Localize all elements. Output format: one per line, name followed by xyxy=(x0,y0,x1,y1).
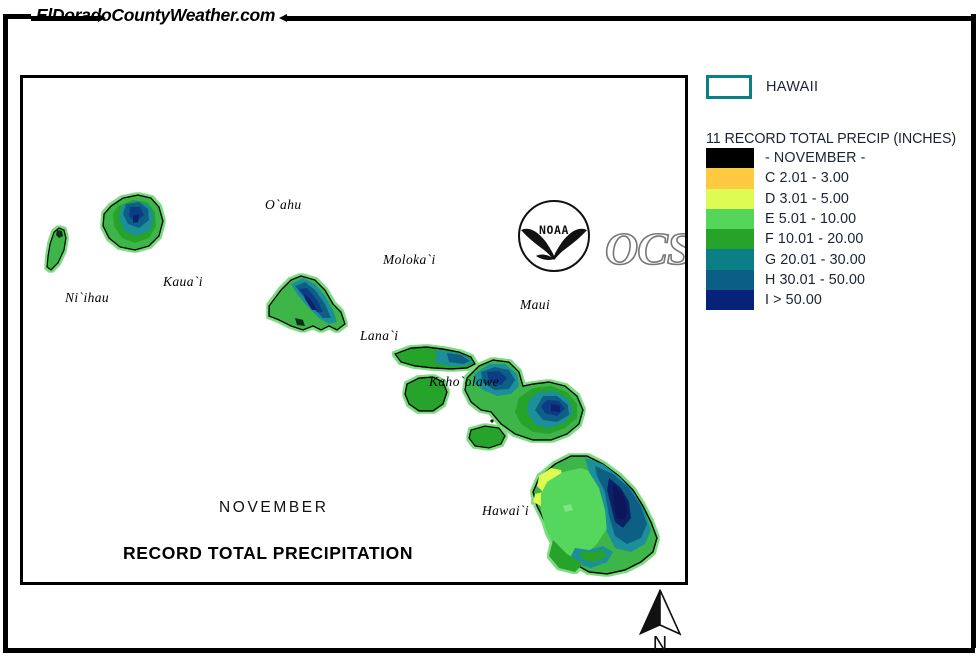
legend-entry-label: - NOVEMBER - xyxy=(765,150,866,166)
noaa-logo-icon: NOAA xyxy=(516,198,592,274)
legend-entry-swatch xyxy=(706,209,754,229)
legend-entry: G 20.01 - 30.00 xyxy=(706,249,970,269)
north-arrow-icon: N xyxy=(636,588,684,652)
legend-entry-label: I > 50.00 xyxy=(765,292,822,308)
hawaii-islands-map xyxy=(23,78,685,582)
map-caption-month: NOVEMBER xyxy=(219,499,329,517)
island-label-molokai: Moloka`i xyxy=(383,252,436,268)
legend-region-row: HAWAII xyxy=(706,74,970,100)
legend-entry: H 30.01 - 50.00 xyxy=(706,270,970,290)
frame-border-right xyxy=(971,14,976,648)
legend-entry-label: D 3.01 - 5.00 xyxy=(765,191,849,207)
legend-entry: C 2.01 - 3.00 xyxy=(706,168,970,188)
legend-entry: I > 50.00 xyxy=(706,290,970,310)
island-label-kauai: Kaua`i xyxy=(163,274,203,290)
island-label-maui: Maui xyxy=(520,297,550,313)
legend-entry-list: - NOVEMBER -C 2.01 - 3.00D 3.01 - 5.00E … xyxy=(706,148,970,310)
island-kauai xyxy=(103,195,163,250)
map-caption-title: RECORD TOTAL PRECIPITATION xyxy=(123,543,413,564)
legend-entry-swatch xyxy=(706,270,754,290)
island-label-kahoolawe: Kaho`olawe xyxy=(429,374,499,390)
ocs-logo-text: OCS xyxy=(605,223,688,274)
island-hawaii-big xyxy=(533,456,657,574)
map-page: ElDoradoCountyWeather.com xyxy=(0,0,980,657)
legend-entry: E 5.01 - 10.00 xyxy=(706,209,970,229)
island-niihau xyxy=(47,228,66,270)
legend-entry-swatch xyxy=(706,290,754,310)
map-legend: HAWAII 11 RECORD TOTAL PRECIP (INCHES) -… xyxy=(706,74,970,310)
legend-entry-swatch xyxy=(706,168,754,188)
island-label-hawaii: Hawai`i xyxy=(482,503,529,519)
island-kahoolawe xyxy=(469,426,505,448)
legend-entry-swatch xyxy=(706,189,754,209)
legend-entry-swatch xyxy=(706,229,754,249)
legend-entry: - NOVEMBER - xyxy=(706,148,970,168)
island-oahu xyxy=(269,276,345,330)
island-label-oahu: O`ahu xyxy=(265,197,302,213)
site-title: ElDoradoCountyWeather.com xyxy=(36,5,275,26)
legend-title: 11 RECORD TOTAL PRECIP (INCHES) xyxy=(706,131,970,147)
legend-entry-swatch xyxy=(706,148,754,168)
map-frame: Ni`ihau Kaua`i O`ahu Moloka`i Lana`i Mau… xyxy=(20,75,688,585)
legend-entry-label: H 30.01 - 50.00 xyxy=(765,272,865,288)
frame-border-bottom xyxy=(3,648,975,653)
island-label-niihau: Ni`ihau xyxy=(65,290,109,306)
north-arrow-label: N xyxy=(653,633,667,652)
legend-entry-swatch xyxy=(706,249,754,269)
legend-entry-label: F 10.01 - 20.00 xyxy=(765,231,863,247)
island-marker-dot xyxy=(490,419,493,422)
island-molokai xyxy=(395,347,475,369)
frame-border-corner xyxy=(3,14,31,19)
frame-border-top-right-segment xyxy=(286,16,975,21)
legend-entry-label: G 20.01 - 30.00 xyxy=(765,252,866,268)
noaa-logo-text: NOAA xyxy=(539,223,569,237)
legend-entry: F 10.01 - 20.00 xyxy=(706,229,970,249)
legend-region-swatch xyxy=(706,75,752,99)
ocs-logo-icon: OCS xyxy=(601,218,688,278)
frame-border-left xyxy=(3,14,8,648)
legend-entry: D 3.01 - 5.00 xyxy=(706,189,970,209)
legend-entry-label: C 2.01 - 3.00 xyxy=(765,170,849,186)
legend-entry-label: E 5.01 - 10.00 xyxy=(765,211,856,227)
island-label-lanai: Lana`i xyxy=(360,328,398,344)
legend-region-label: HAWAII xyxy=(766,79,818,95)
